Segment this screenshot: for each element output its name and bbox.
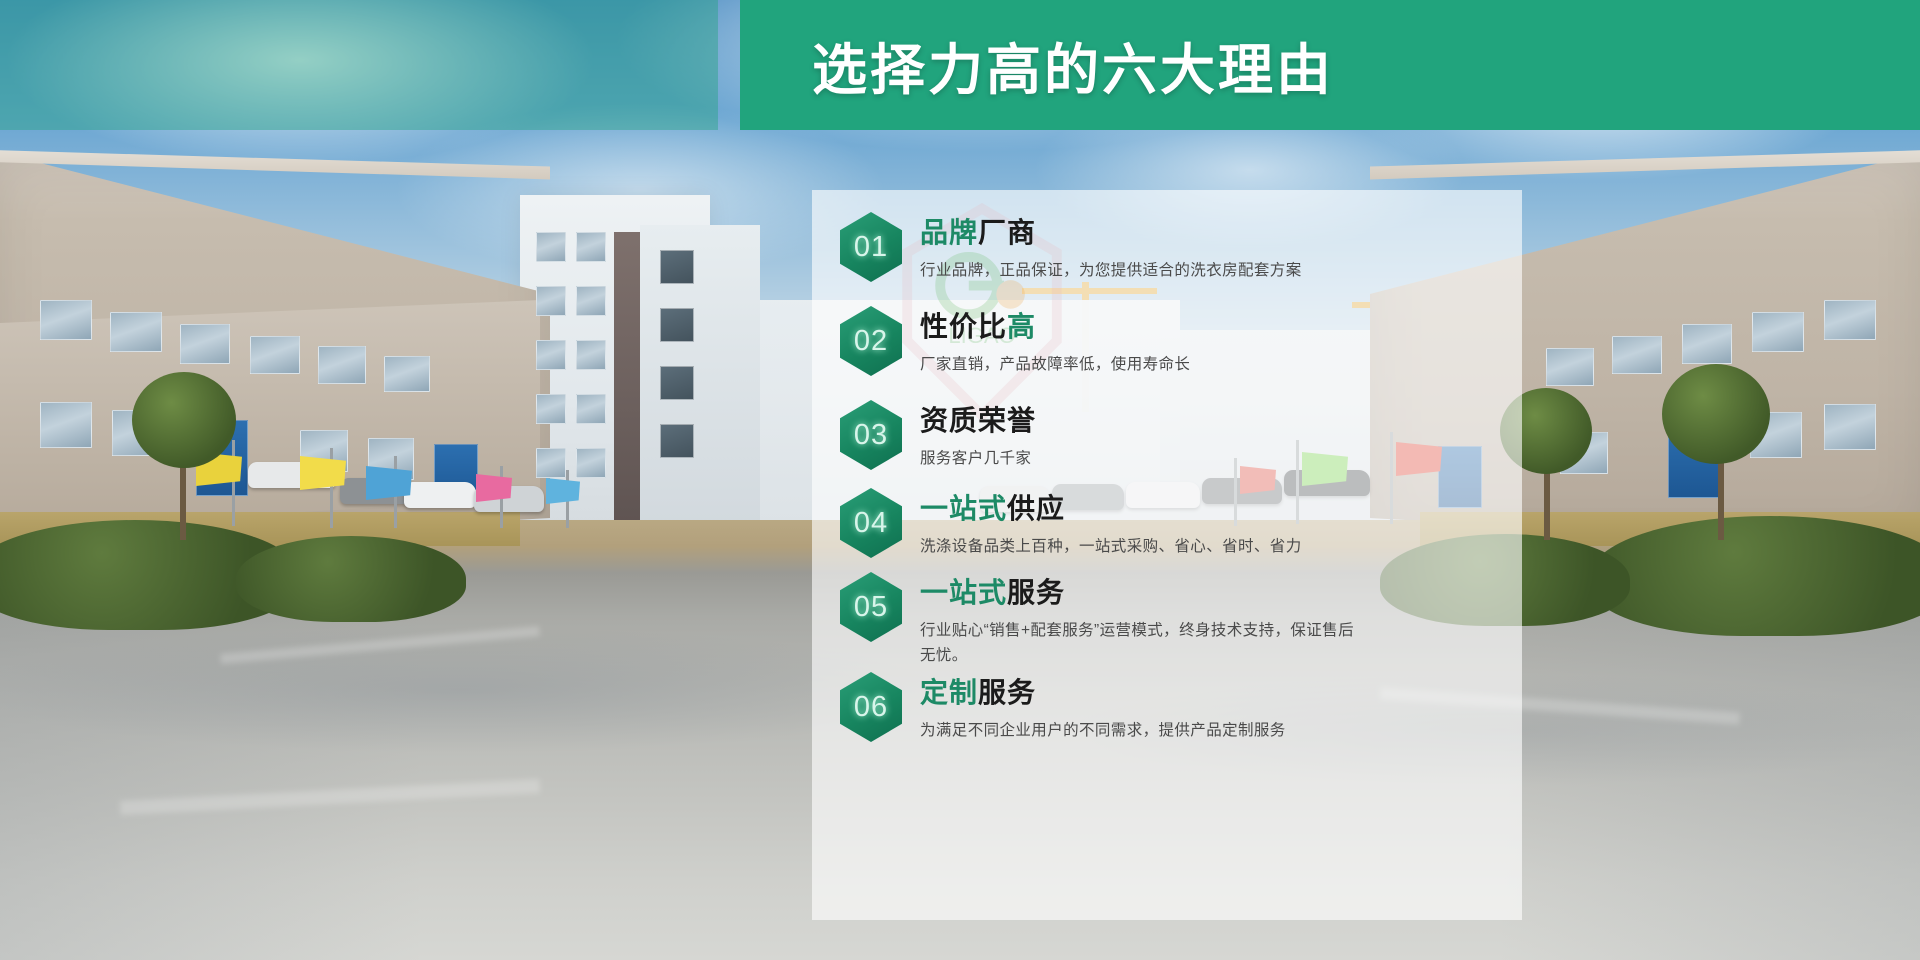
window — [576, 394, 606, 424]
reason-item-01[interactable]: 01 品牌厂商 行业品牌，正品保证，为您提供适合的洗衣房配套方案 — [840, 212, 1502, 284]
window — [660, 424, 694, 458]
window — [576, 286, 606, 316]
reason-number: 03 — [840, 400, 902, 470]
reason-title: 一站式供应 — [920, 494, 1502, 525]
page-title: 选择力高的六大理由 — [812, 0, 1334, 130]
header-left-overlay — [0, 0, 718, 130]
window — [536, 394, 566, 424]
reason-title: 一站式服务 — [920, 578, 1502, 609]
reason-number: 06 — [840, 672, 902, 742]
flag-yellow — [300, 456, 346, 490]
reason-number: 02 — [840, 306, 902, 376]
reason-number: 04 — [840, 488, 902, 558]
reason-text: 定制服务 为满足不同企业用户的不同需求，提供产品定制服务 — [920, 672, 1502, 744]
window — [660, 308, 694, 342]
hexagon-number-badge: 02 — [840, 306, 902, 376]
window — [40, 300, 92, 340]
reason-title-dark: 厂商 — [978, 217, 1036, 248]
reasons-panel: LIGAO 01 品牌厂商 行业品牌，正品保证，为您提供适合的洗衣房配套方案 0… — [812, 190, 1522, 920]
window — [660, 250, 694, 284]
reason-title: 资质荣誉 — [920, 406, 1502, 437]
window — [1546, 348, 1594, 386]
window — [536, 340, 566, 370]
window — [180, 324, 230, 364]
reason-title: 品牌厂商 — [920, 218, 1502, 249]
reason-text: 一站式供应 洗涤设备品类上百种，一站式采购、省心、省时、省力 — [920, 488, 1502, 560]
reason-number: 01 — [840, 212, 902, 282]
reason-text: 资质荣誉 服务客户几千家 — [920, 400, 1502, 472]
reason-title-green: 品牌 — [920, 217, 978, 248]
flag-blue — [546, 478, 580, 504]
window — [1682, 324, 1732, 364]
reason-desc: 行业贴心“销售+配套服务”运营模式，终身技术支持，保证售后无忧。 — [920, 619, 1360, 669]
window — [250, 336, 300, 374]
tree-foliage — [1662, 364, 1770, 464]
window — [576, 232, 606, 262]
window — [1824, 404, 1876, 450]
header-banner: 选择力高的六大理由 — [0, 0, 1920, 130]
tree-foliage — [132, 372, 236, 468]
reason-title-green: 高 — [1007, 311, 1036, 342]
reason-text: 品牌厂商 行业品牌，正品保证，为您提供适合的洗衣房配套方案 — [920, 212, 1502, 284]
hexagon-number-badge: 06 — [840, 672, 902, 742]
reasons-list: 01 品牌厂商 行业品牌，正品保证，为您提供适合的洗衣房配套方案 02 性价比高… — [812, 190, 1522, 920]
reason-desc: 厂家直销，产品故障率低，使用寿命长 — [920, 353, 1502, 378]
window — [576, 340, 606, 370]
window — [110, 312, 162, 352]
hexagon-number-badge: 01 — [840, 212, 902, 282]
window — [318, 346, 366, 384]
reason-desc: 洗涤设备品类上百种，一站式采购、省心、省时、省力 — [920, 535, 1502, 560]
reason-title-dark: 性价比 — [920, 311, 1007, 342]
reason-item-02[interactable]: 02 性价比高 厂家直销，产品故障率低，使用寿命长 — [840, 306, 1502, 378]
reason-item-05[interactable]: 05 一站式服务 行业贴心“销售+配套服务”运营模式，终身技术支持，保证售后无忧… — [840, 572, 1502, 668]
flagpole — [232, 440, 235, 526]
window — [536, 448, 566, 478]
reason-item-06[interactable]: 06 定制服务 为满足不同企业用户的不同需求，提供产品定制服务 — [840, 672, 1502, 744]
window — [1824, 300, 1876, 340]
promo-banner-stage: 选择力高的六大理由 LIGAO 01 品牌厂商 行业品牌，正品保证，为您提供适合… — [0, 0, 1920, 960]
reason-title-dark: 服务 — [978, 677, 1036, 708]
reason-title-green: 一站式 — [920, 493, 1007, 524]
hedge — [1590, 516, 1920, 636]
reason-desc: 为满足不同企业用户的不同需求，提供产品定制服务 — [920, 719, 1502, 744]
reason-text: 一站式服务 行业贴心“销售+配套服务”运营模式，终身技术支持，保证售后无忧。 — [920, 572, 1502, 668]
reason-title-dark: 服务 — [1007, 577, 1065, 608]
reason-title-dark: 供应 — [1007, 493, 1065, 524]
window — [1752, 312, 1804, 352]
center-office-building-b — [640, 225, 760, 525]
flag-blue — [366, 466, 412, 500]
window — [384, 356, 430, 392]
window — [576, 448, 606, 478]
reason-title-dark: 资质荣誉 — [920, 405, 1036, 436]
reason-title-green: 一站式 — [920, 577, 1007, 608]
reason-desc: 行业品牌，正品保证，为您提供适合的洗衣房配套方案 — [920, 259, 1502, 284]
reason-number: 05 — [840, 572, 902, 642]
reason-title: 性价比高 — [920, 312, 1502, 343]
reason-item-04[interactable]: 04 一站式供应 洗涤设备品类上百种，一站式采购、省心、省时、省力 — [840, 488, 1502, 560]
hedge — [236, 536, 466, 622]
hexagon-number-badge: 04 — [840, 488, 902, 558]
reason-desc: 服务客户几千家 — [920, 447, 1502, 472]
reason-text: 性价比高 厂家直销，产品故障率低，使用寿命长 — [920, 306, 1502, 378]
reason-item-03[interactable]: 03 资质荣誉 服务客户几千家 — [840, 400, 1502, 472]
hexagon-number-badge: 03 — [840, 400, 902, 470]
parked-car — [404, 482, 476, 508]
window — [536, 232, 566, 262]
reason-title: 定制服务 — [920, 678, 1502, 709]
window — [1612, 336, 1662, 374]
hexagon-number-badge: 05 — [840, 572, 902, 642]
window — [660, 366, 694, 400]
window — [40, 402, 92, 448]
flag-pink — [476, 474, 512, 502]
window — [536, 286, 566, 316]
reason-title-green: 定制 — [920, 677, 978, 708]
